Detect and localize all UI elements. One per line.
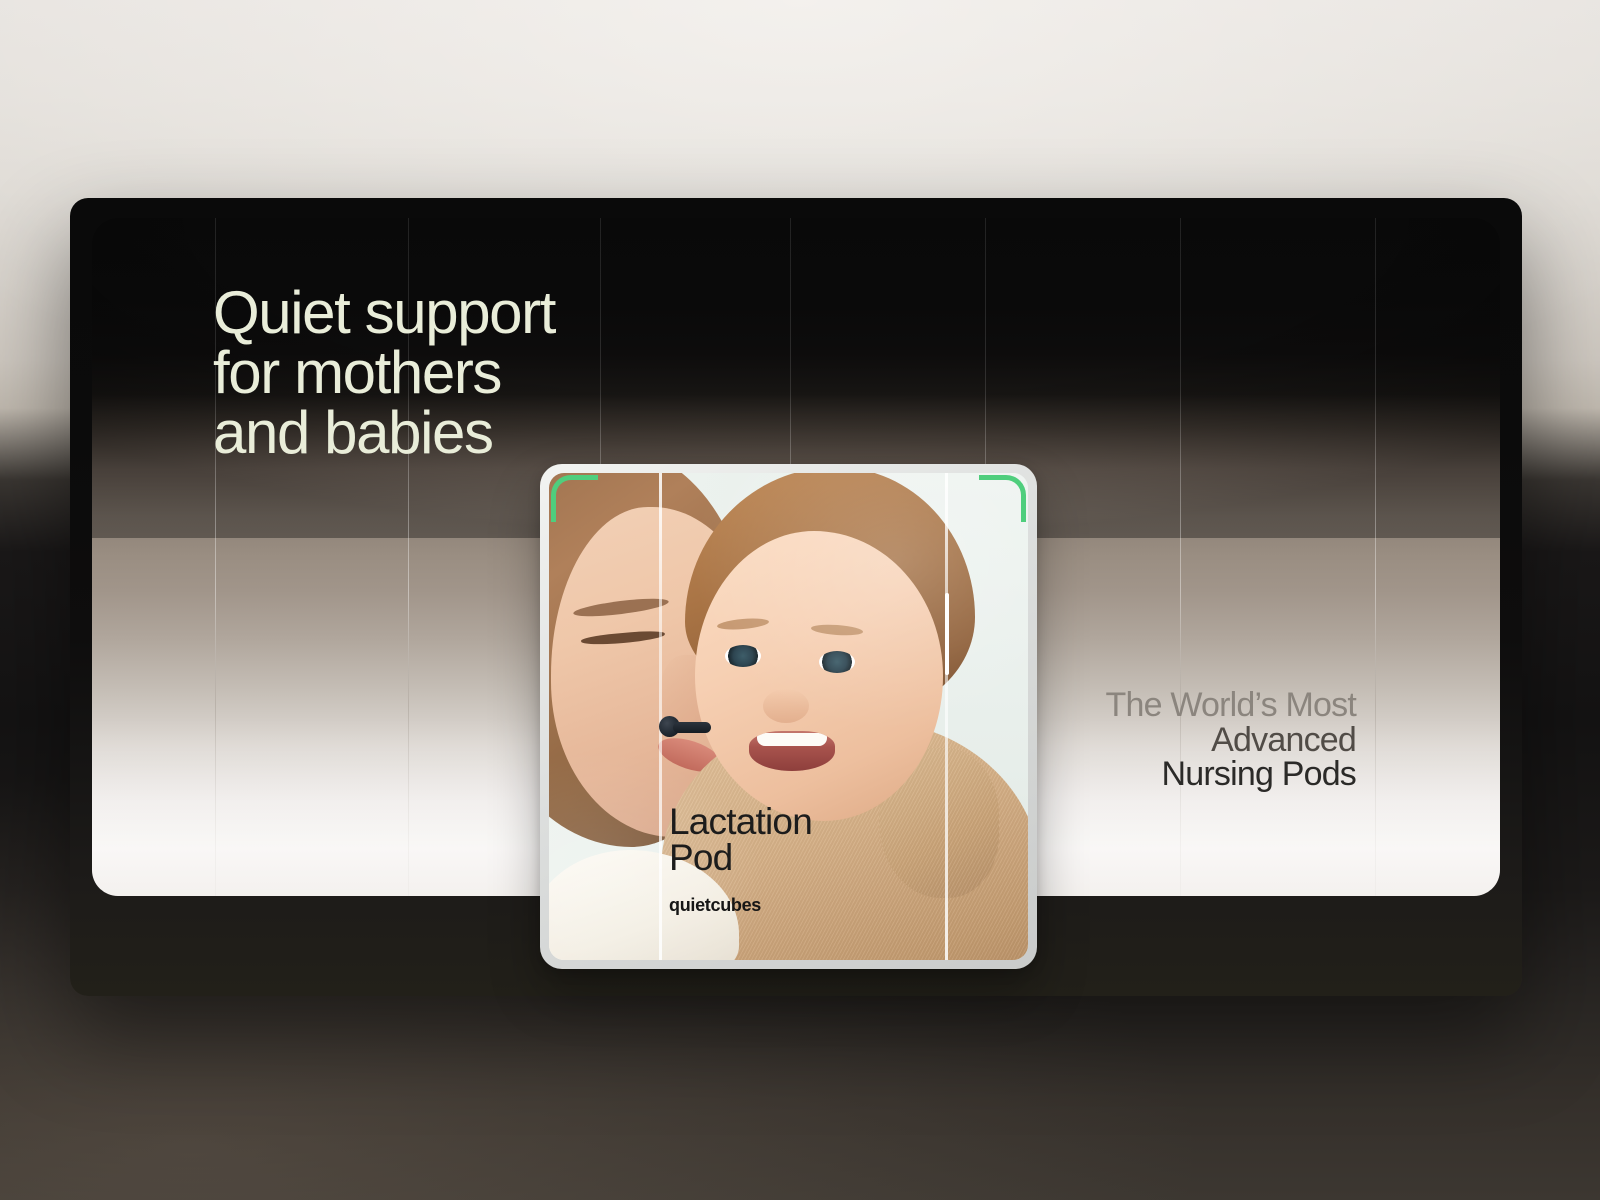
baby-head xyxy=(695,531,943,821)
page-backdrop: Quiet support for mothers and babies The… xyxy=(0,0,1600,1200)
grid-line-7 xyxy=(1375,218,1376,896)
tagline-block: The World’s Most Advanced Nursing Pods xyxy=(1106,688,1356,792)
tagline-line-1: The World’s Most xyxy=(1106,688,1356,723)
pin-bar xyxy=(673,722,711,733)
baby-mouth xyxy=(749,731,835,771)
brand-name: quietcubes xyxy=(669,895,812,916)
product-card[interactable]: Lactation Pod quietcubes xyxy=(540,464,1037,969)
grid-line-6 xyxy=(1180,218,1181,896)
baby-eye-right xyxy=(819,651,855,673)
baby-eye-left xyxy=(725,645,761,667)
product-card-inner: Lactation Pod quietcubes xyxy=(549,473,1028,960)
product-name: Lactation Pod xyxy=(669,804,812,877)
tagline-line-3: Nursing Pods xyxy=(1106,757,1356,792)
page-title: Quiet support for mothers and babies xyxy=(213,283,853,463)
baby-teeth xyxy=(757,733,827,746)
pin-key-icon[interactable] xyxy=(659,720,711,733)
tagline-line-2: Advanced xyxy=(1106,723,1356,758)
baby-nose xyxy=(763,689,809,723)
card-text-block: Lactation Pod quietcubes xyxy=(669,804,812,916)
